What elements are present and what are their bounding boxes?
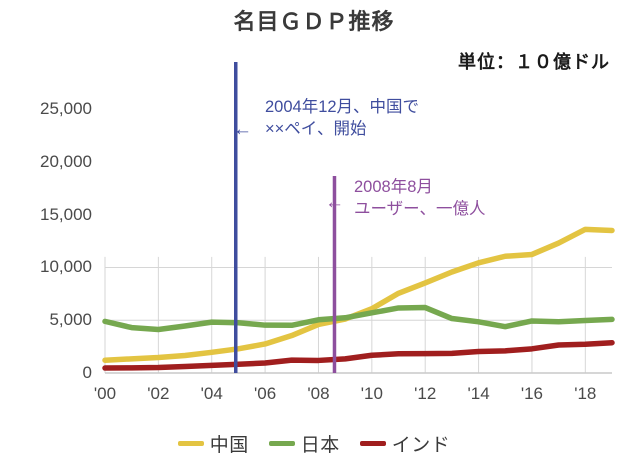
annotation-line: ユーザー、一億人 <box>354 198 486 220</box>
annotation-line: 2004年12月、中国で <box>265 96 419 118</box>
legend-item-日本[interactable]: 日本 <box>269 430 340 457</box>
legend-swatch-icon <box>360 441 386 446</box>
chart-legend: 中国日本インド <box>0 430 628 457</box>
legend-label: 中国 <box>210 430 249 457</box>
legend-item-インド[interactable]: インド <box>360 430 451 457</box>
series-line-中国 <box>105 229 612 360</box>
legend-swatch-icon <box>269 441 295 446</box>
annotation-line: 2008年8月 <box>354 176 486 198</box>
legend-label: 日本 <box>301 430 340 457</box>
legend-label: インド <box>392 430 451 457</box>
annotation-arrow-hundred-million-users: ← <box>325 193 344 212</box>
annotation-arrow-alipay-launch: ← <box>233 120 252 139</box>
chart-container: 名目ＧＤＰ推移 単位：１０億ドル 05,00010,00015,00020,00… <box>0 0 628 471</box>
legend-swatch-icon <box>178 441 204 446</box>
legend-item-中国[interactable]: 中国 <box>178 430 249 457</box>
annotation-line: ××ペイ、開始 <box>265 118 419 140</box>
annotation-hundred-million-users: 2008年8月 ユーザー、一億人 <box>354 176 486 221</box>
plot-area <box>0 0 628 471</box>
series-line-日本 <box>105 308 612 330</box>
annotation-alipay-launch: 2004年12月、中国で ××ペイ、開始 <box>265 96 419 141</box>
